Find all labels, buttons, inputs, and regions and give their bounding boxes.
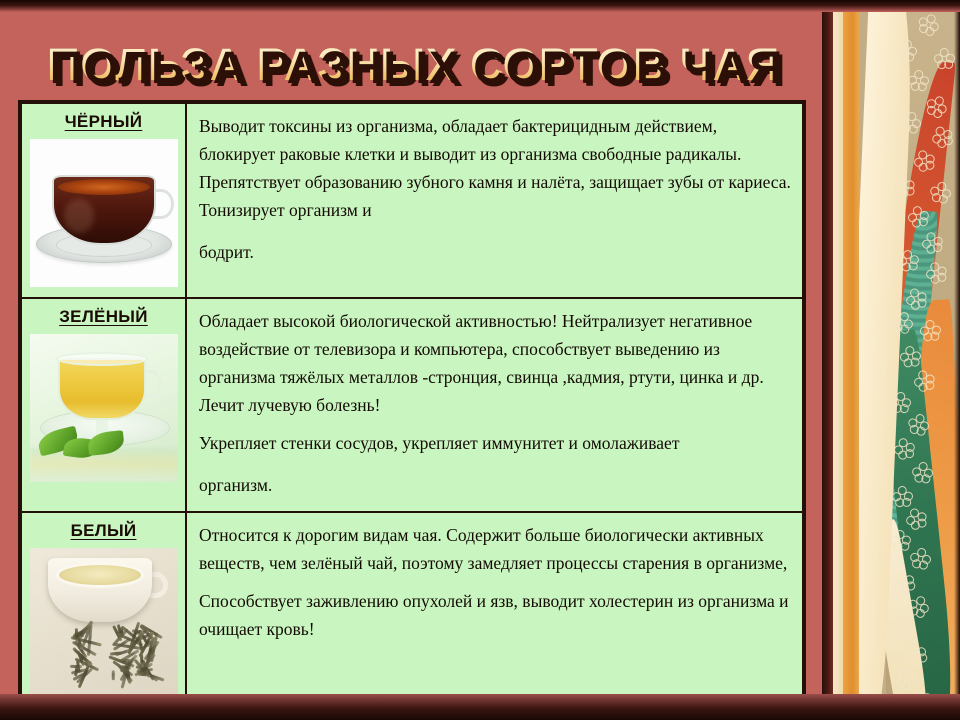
tea-surface-shape xyxy=(56,562,144,588)
blossom-icon xyxy=(895,39,920,64)
floral-ribbon-border xyxy=(822,0,960,720)
description-paragraph: Обладает высокой биологической активност… xyxy=(199,307,792,419)
tea-kind-label: ЧЁРНЫЙ xyxy=(65,112,143,132)
table-row: ЗЕЛЁНЫЙ Обладает высокой биологич xyxy=(20,298,804,512)
black-tea-cup-photo xyxy=(30,139,178,287)
white-tea-cup-photo xyxy=(30,548,178,696)
table-row: ЧЁРНЫЙ Выводит токсины из организма, обл… xyxy=(20,102,804,298)
blossom-icon xyxy=(906,204,931,229)
tea-kind-label: БЕЛЫЙ xyxy=(71,521,137,541)
blossom-icon xyxy=(908,70,931,93)
blossom-icon xyxy=(908,546,933,571)
blossom-icon xyxy=(892,486,915,509)
blossom-icon xyxy=(919,319,942,342)
cup-rim-shape xyxy=(56,352,148,366)
blossom-icon xyxy=(911,461,935,485)
page-title: ПОЛЬЗА РАЗНЫХ СОРТОВ ЧАЯ xyxy=(46,42,779,87)
border-orange-strip xyxy=(843,0,859,720)
green-tea-cup-photo xyxy=(30,334,178,482)
cup-shape xyxy=(52,175,156,245)
border-maroon-strip xyxy=(822,0,833,720)
description-paragraph: Относится к дорогим видам чая. Содержит … xyxy=(199,521,792,577)
glass-highlight-shape xyxy=(64,199,94,233)
blossom-icon xyxy=(897,249,922,274)
blossom-icon xyxy=(899,345,923,369)
blossom-icon xyxy=(934,48,957,71)
tea-description-cell-green: Обладает высокой биологической активност… xyxy=(186,298,804,512)
tea-leaf-shape xyxy=(70,665,82,668)
tea-description-cell-white: Относится к дорогим видам чая. Содержит … xyxy=(186,512,804,708)
slide-canvas: ПОЛЬЗА РАЗНЫХ СОРТОВ ЧАЯ ЧЁРНЫЙ xyxy=(0,0,960,720)
description-paragraph: Способствует заживлению опухолей и язв, … xyxy=(199,587,792,643)
cup-shape xyxy=(58,358,146,420)
border-right-shadow xyxy=(954,0,960,720)
border-cream-strip xyxy=(833,0,843,720)
title-area: ПОЛЬЗА РАЗНЫХ СОРТОВ ЧАЯ xyxy=(0,36,826,92)
description-paragraph: организм. xyxy=(199,471,792,499)
tea-kind-label: ЗЕЛЁНЫЙ xyxy=(59,307,148,327)
tea-benefits-table: ЧЁРНЫЙ Выводит токсины из организма, обл… xyxy=(18,100,806,710)
blossom-icon xyxy=(928,180,954,206)
blossom-icon xyxy=(889,529,912,552)
blossom-icon xyxy=(898,110,924,136)
table-row: БЕЛЫЙ Относится к дорогим видам чая. Сод… xyxy=(20,512,804,708)
tea-description-cell-black: Выводит токсины из организма, обладает б… xyxy=(186,102,804,298)
description-paragraph: Выводит токсины из организма, обладает б… xyxy=(199,112,792,224)
dry-tea-leaves-shape xyxy=(44,622,168,692)
tea-surface-shape xyxy=(58,179,150,195)
tea-kind-cell-white: БЕЛЫЙ xyxy=(20,512,186,708)
tea-leaf-shape xyxy=(111,670,114,680)
description-paragraph: Укрепляет стенки сосудов, укрепляет имму… xyxy=(199,429,792,457)
tea-kind-cell-black: ЧЁРНЫЙ xyxy=(20,102,186,298)
blossom-icon xyxy=(890,392,913,415)
blossom-icon xyxy=(892,436,918,462)
slide-bottom-edge xyxy=(0,694,960,720)
description-paragraph: бодрит. xyxy=(199,238,792,266)
slide-top-edge xyxy=(0,0,960,12)
tea-kind-cell-green: ЗЕЛЁНЫЙ xyxy=(20,298,186,512)
